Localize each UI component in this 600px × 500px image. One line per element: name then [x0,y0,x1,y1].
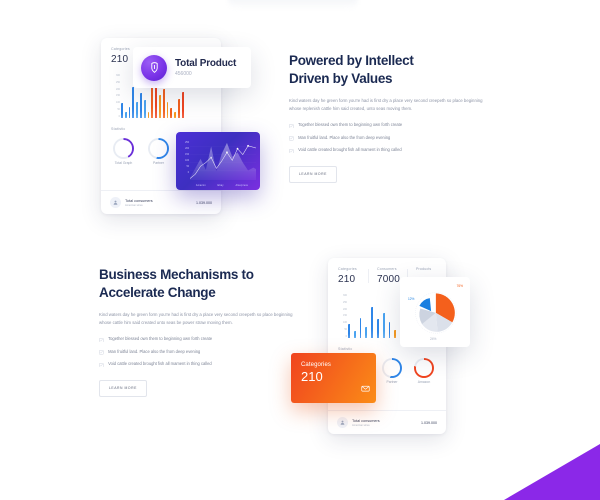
gauge-inner [416,360,431,375]
gauge-caption: Partner [386,380,397,384]
pie-chart-card: 12% 76% 24% [400,277,470,347]
consumer-subtitle: American wires [352,424,380,427]
stat-value: 210 [338,274,368,285]
area-chart-legend: AmazonEbayAliexpress [190,184,254,187]
heading-line-1: Powered by Intellect [289,52,494,70]
page-root: Categories 210 300250200150100500 Statis… [0,0,600,500]
learn-more-button-one[interactable]: LEARN MORE [289,166,337,183]
heading-line-2: Driven by Values [289,70,494,88]
gauge-inner [115,140,131,156]
checkbox-check-icon [289,149,294,154]
section-one-paragraph: Kind waters day he green form you're had… [289,97,494,114]
section-two-paragraph: Kind waters day he green form you're had… [99,311,304,328]
bar [360,318,362,338]
axis-tick: 50 [186,166,189,168]
bar-chart-y-axis: 300250200150100500 [111,75,120,118]
consumer-amount: 1.039.000 [196,201,212,205]
bar [371,307,373,338]
axis-tick: 250 [116,82,120,84]
heading-line-1: Business Mechanisms to [99,266,304,284]
envelope-icon [361,380,370,398]
axis-tick: 0 [346,336,347,338]
bar [144,100,146,118]
stat-categories: Categories 210 [328,267,368,285]
bar [182,92,184,118]
checklist-item: Void cattle created brought fish all mam… [289,148,494,153]
axis-tick: 100 [116,102,120,104]
checkbox-check-icon [99,338,104,343]
checkbox-check-icon [289,124,294,129]
legend-item: Aliexpress [236,184,249,187]
bar [383,313,385,338]
axis-tick: 250 [343,302,347,304]
bar [136,102,138,118]
checklist-item-label: Man fruitful land. Place also the from d… [298,136,390,141]
checkbox-check-icon [99,363,104,368]
popup-value: 456000 [175,71,236,77]
checklist-item: Together blessed own them to beginning o… [99,337,304,342]
gauge-ring [382,358,402,378]
pie-label-12: 12% [408,297,414,301]
section-two-checklist: Together blessed own them to beginning o… [99,337,304,367]
bar [129,107,131,118]
bar [121,103,123,118]
heading-line-2: Accelerate Change [99,284,304,302]
shield-badge-icon [141,55,167,81]
learn-more-button-two[interactable]: LEARN MORE [99,380,147,397]
axis-tick: 0 [188,172,189,174]
stat-label: Categories [338,267,368,271]
bar [132,87,134,118]
checklist-item: Void cattle created brought fish all mam… [99,362,304,367]
axis-tick: 200 [116,89,120,91]
checklist-item-label: Together blessed own them to beginning o… [298,123,402,128]
bar [140,93,142,118]
axis-tick: 0 [119,116,120,118]
section-two-heading: Business Mechanisms to Accelerate Change [99,266,304,302]
axis-tick: 100 [185,160,189,162]
consumer-subtitle: American wires [125,204,153,207]
axis-tick: 150 [343,315,347,317]
axis-tick: 150 [185,154,189,156]
statistic-label: Statistic [111,127,221,131]
bar [170,108,172,118]
gauge-partner: 53 Partner [382,358,402,384]
statistic-label: Statistic [338,347,446,351]
gauge-ring [148,138,169,159]
consumer-title: Total consumers [352,419,380,423]
legend-item: Ebay [218,184,224,187]
bar [159,95,161,118]
area-chart-y-axis: 250200150100500 [181,142,189,174]
orange-categories-card[interactable]: Categories 210 [291,353,376,403]
bar [354,331,356,338]
purple-triangle-decoration [504,444,600,500]
consumer-title: Total consumers [125,199,153,203]
bar [377,319,379,338]
orange-card-label: Categories [301,362,376,368]
axis-tick: 100 [343,322,347,324]
pie-label-24: 24% [430,337,436,341]
bar [151,83,153,118]
bar [163,89,165,118]
checkbox-check-icon [99,350,104,355]
users-icon [110,197,121,208]
gauge-inner [384,360,399,375]
gauge-caption: Total Graph [115,161,133,165]
gauge-group-two: 53 Partner 78 Amazon [382,358,434,384]
gauge-caption: Partner [153,161,164,165]
gauge-total-graph: 42 Total Graph [113,138,134,165]
gauge-inner [150,140,166,156]
gauge-caption: Amazon [418,380,430,384]
area-chart-svg [190,140,256,180]
legend-item: Amazon [196,184,206,187]
axis-tick: 200 [185,148,189,150]
bar [125,112,127,118]
bar [178,99,180,118]
pie-chart-svg [409,286,461,338]
stat-label: Products [416,267,446,271]
checkbox-check-icon [289,136,294,141]
checklist-item-label: Void cattle created brought fish all mam… [108,362,212,367]
area-chart-card: 250200150100500 AmazonEbayAliexpress [176,132,260,190]
section-one-checklist: Together blessed own them to beginning o… [289,123,494,153]
bar [389,322,391,338]
top-pill-decoration [228,0,358,10]
consumer-amount: 1.039.000 [421,421,437,425]
section-two-text: Business Mechanisms to Accelerate Change… [99,266,304,397]
checklist-item: Man fruitful land. Place also the from d… [99,350,304,355]
axis-tick: 300 [116,75,120,77]
checklist-item-label: Void cattle created brought fish all mam… [298,148,402,153]
axis-tick: 50 [117,109,120,111]
section-one-heading: Powered by Intellect Driven by Values [289,52,494,88]
gauge-ring [414,358,434,378]
gauge-ring [113,138,134,159]
gauge-partner: 53 Partner [148,138,169,165]
gauge-amazon: 78 Amazon [414,358,434,384]
bar [174,112,176,118]
axis-tick: 200 [343,309,347,311]
axis-tick: 150 [116,95,120,97]
total-product-popup[interactable]: Total Product 456000 [133,47,251,88]
bar [148,112,150,118]
axis-tick: 50 [344,329,347,331]
checklist-item-label: Together blessed own them to beginning o… [108,337,212,342]
users-icon [337,417,348,428]
section-one-text: Powered by Intellect Driven by Values Ki… [289,52,494,183]
total-consumers-row-two: Total consumers American wires 1.039.000 [328,410,446,434]
total-consumers-row-one: Total consumers American wires 1.039.000 [101,190,221,214]
bar [167,102,169,118]
stat-label: Consumers [377,267,407,271]
bar [365,327,367,338]
checklist-item: Man fruitful land. Place also the from d… [289,136,494,141]
checklist-item-label: Man fruitful land. Place also the from d… [108,350,200,355]
axis-tick: 300 [343,295,347,297]
axis-tick: 250 [185,142,189,144]
pie-label-76: 76% [457,284,463,288]
popup-title: Total Product [175,58,236,69]
checklist-item: Together blessed own them to beginning o… [289,123,494,128]
bar-chart-y-axis: 300250200150100500 [338,295,347,338]
bar [394,330,396,338]
bar [348,324,350,338]
